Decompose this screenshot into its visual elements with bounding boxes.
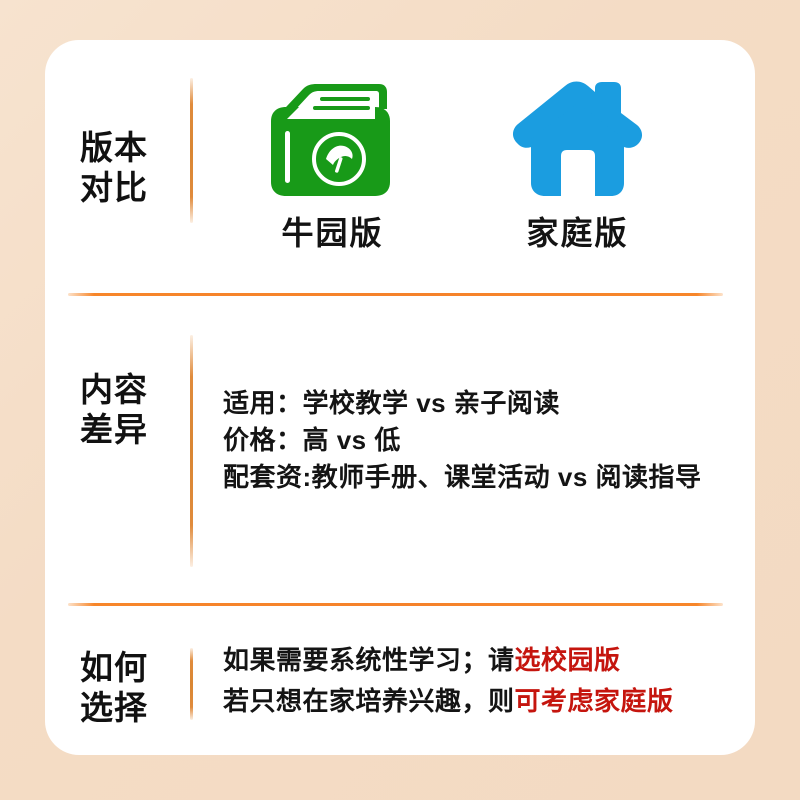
content-line-usage: 适用：学校教学 vs 亲子阅读 xyxy=(223,385,702,422)
page-root: 版本 对比 xyxy=(0,0,800,800)
option-family-version[interactable]: 家庭版 xyxy=(470,76,685,254)
comparison-card: 版本 对比 xyxy=(45,40,755,755)
green-book-icon xyxy=(225,76,440,206)
option-school-version-caption: 牛园版 xyxy=(225,208,440,254)
section-choose-label: 如何 选择 xyxy=(80,648,200,728)
section-content-label: 内容 差异 xyxy=(80,370,200,450)
content-line-resources: 配套资:教师手册、课堂活动 vs 阅读指导 xyxy=(223,459,702,496)
vertical-rule-version xyxy=(190,78,193,223)
option-school-version[interactable]: 牛园版 xyxy=(225,76,440,254)
section-version-comparison: 版本 对比 xyxy=(45,58,755,303)
vertical-rule-content xyxy=(190,335,193,567)
choose-line-family-highlight: 可考虑家庭版 xyxy=(515,686,674,716)
option-family-version-caption: 家庭版 xyxy=(470,208,685,254)
choose-line-school: 如果需要系统性学习；请选校园版 xyxy=(223,640,674,681)
content-difference-list: 适用：学校教学 vs 亲子阅读 价格：高 vs 低 配套资:教师手册、课堂活动 … xyxy=(223,385,702,496)
choose-line-school-plain: 如果需要系统性学习；请 xyxy=(223,645,515,675)
choose-line-family-plain: 若只想在家培养兴趣，则 xyxy=(223,686,515,716)
blue-house-icon xyxy=(470,76,685,206)
section-how-to-choose: 如何 选择 如果需要系统性学习；请选校园版 若只想在家培养兴趣，则可考虑家庭版 xyxy=(45,630,755,750)
choose-line-school-highlight: 选校园版 xyxy=(515,645,621,675)
choose-line-family: 若只想在家培养兴趣，则可考虑家庭版 xyxy=(223,681,674,722)
divider-2 xyxy=(68,603,723,606)
content-line-price: 价格：高 vs 低 xyxy=(223,422,702,459)
section-version-label: 版本 对比 xyxy=(80,128,200,208)
choose-advice-list: 如果需要系统性学习；请选校园版 若只想在家培养兴趣，则可考虑家庭版 xyxy=(223,640,674,722)
divider-1 xyxy=(68,293,723,296)
vertical-rule-choose xyxy=(190,648,193,720)
section-content-differences: 内容 差异 适用：学校教学 vs 亲子阅读 价格：高 vs 低 配套资:教师手册… xyxy=(45,325,755,595)
